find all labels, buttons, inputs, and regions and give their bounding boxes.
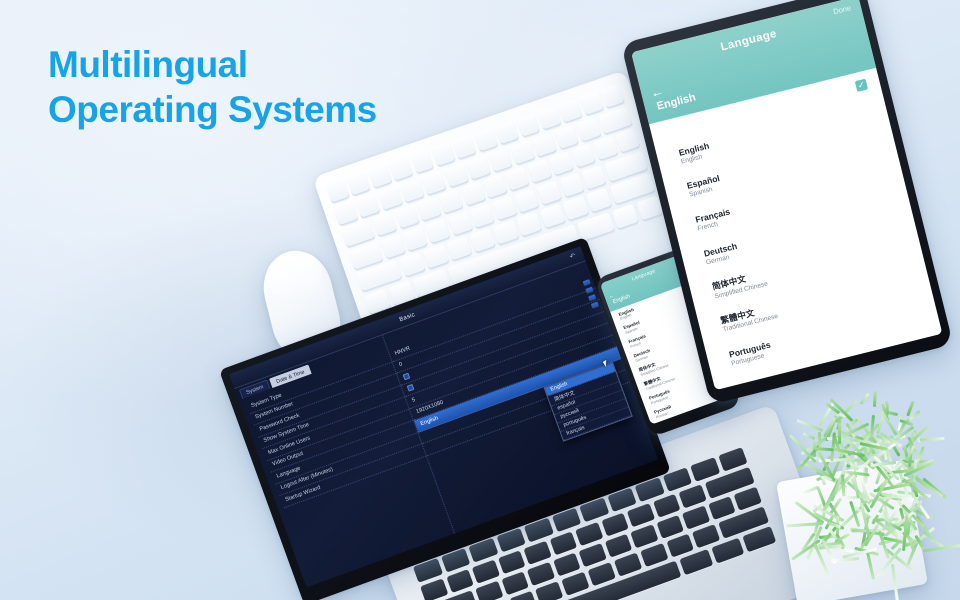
nav-button-2[interactable] [585, 287, 593, 294]
potted-plant [772, 320, 952, 550]
nav-button-3[interactable] [588, 294, 596, 301]
checkbox-icon [403, 372, 411, 380]
return-icon[interactable]: ↶ [567, 251, 579, 263]
page-title: Multilingual Operating Systems [48, 42, 377, 132]
arrow-left-icon[interactable]: ← [649, 84, 665, 100]
checkbox-icon [407, 384, 415, 392]
nvr-window-title: Basic [399, 312, 416, 323]
banner-scene: Multilingual Operating Systems [0, 0, 960, 600]
nav-button-1[interactable] [583, 279, 591, 286]
